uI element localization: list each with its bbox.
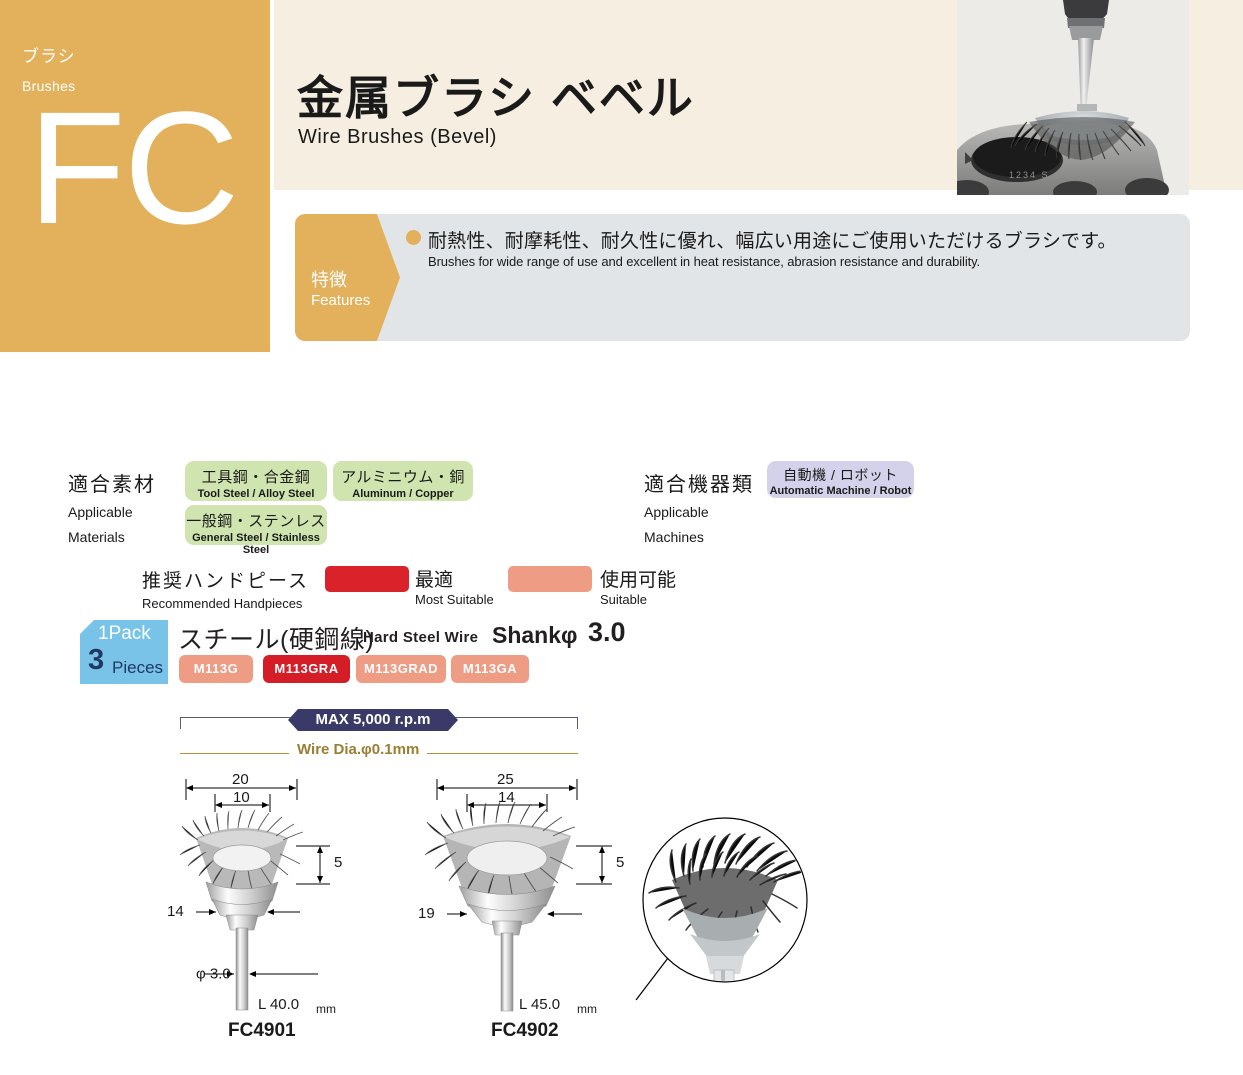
features-text-jp: 耐熱性、耐摩耗性、耐久性に優れ、幅広い用途にご使用いただけるブラシです。	[428, 226, 1117, 253]
shank-label: Shankφ	[492, 622, 577, 649]
page-title-en: Wire Brushes (Bevel)	[298, 126, 497, 149]
dim-fc4902-length-unit: mm	[577, 1002, 597, 1016]
features-tab-label-jp: 特徴	[311, 266, 347, 292]
legend-suitable-jp: 使用可能	[600, 565, 676, 592]
dim-fc4902-brush-height: 5	[616, 854, 624, 871]
machines-label-en-1: Applicable	[644, 503, 754, 522]
applicable-materials-label: 適合素材 Applicable Materials	[68, 468, 156, 547]
material-chip-en: Aluminum / Copper	[333, 488, 473, 500]
materials-label-jp: 適合素材	[68, 468, 156, 497]
material-chip: 工具鋼・合金鋼 Tool Steel / Alloy Steel	[185, 461, 327, 501]
material-chip-en: Tool Steel / Alloy Steel	[185, 488, 327, 500]
dim-fc4901-head-height: 14	[167, 903, 184, 920]
material-chip-en: General Steel / Stainless Steel	[185, 532, 327, 556]
category-label-jp: ブラシ	[22, 42, 76, 67]
pack-quantity-badge: 1Pack 3 Pieces	[80, 620, 168, 684]
pack-label: 1Pack	[98, 623, 151, 645]
dim-fc4902-length: L 45.0	[519, 996, 560, 1013]
handpiece-chip[interactable]: M113GA	[451, 655, 529, 683]
dim-fc4902-head-height: 19	[418, 905, 435, 922]
bullet-icon	[406, 230, 421, 245]
wire-type-jp: スチール(硬鋼線)	[178, 620, 374, 656]
magnified-detail-view	[636, 818, 807, 1060]
dim-fc4901-brush-height: 5	[334, 854, 342, 871]
svg-text:1234 S: 1234 S	[1009, 170, 1050, 180]
materials-label-en-2: Materials	[68, 528, 156, 547]
product-code-fc4902: FC4902	[491, 1020, 559, 1042]
legend-label-most-suitable: 最適 Most Suitable	[415, 565, 494, 607]
max-rpm-badge: MAX 5,000 r.p.m	[288, 709, 458, 731]
dim-fc4902-inner-dia: 14	[498, 789, 515, 806]
page-header: 1234 S ブラシ B	[0, 0, 1243, 356]
hero-product-photo: 1234 S	[957, 0, 1189, 195]
handpieces-label-jp: 推奨ハンドピース	[142, 566, 309, 593]
shank-value: 3.0	[588, 617, 626, 648]
handpieces-label-en: Recommended Handpieces	[142, 595, 309, 613]
handpiece-chip[interactable]: M113GRA	[263, 655, 350, 683]
dim-fc4901-length: L 40.0	[258, 996, 299, 1013]
material-chip: アルミニウム・銅 Aluminum / Copper	[333, 461, 473, 501]
machine-chip-jp: 自動機 / ロボット	[767, 465, 914, 485]
dim-fc4902-outer-dia: 25	[497, 771, 514, 788]
materials-label-en-1: Applicable	[68, 503, 156, 522]
dim-fc4901-length-unit: mm	[316, 1002, 336, 1016]
wire-dia-label: Wire Dia.φ0.1mm	[289, 741, 427, 758]
material-chip-jp: アルミニウム・銅	[333, 466, 473, 487]
machine-chip-en: Automatic Machine / Robot	[767, 485, 914, 497]
legend-swatch-suitable	[508, 566, 592, 592]
wire-type-en: Hard Steel Wire	[363, 629, 478, 646]
features-tab-label-en: Features	[311, 292, 370, 309]
machines-label-jp: 適合機器類	[644, 468, 754, 497]
pack-count: 3	[88, 646, 104, 675]
features-text-en: Brushes for wide range of use and excell…	[428, 254, 980, 269]
dim-fc4901-shank-dia: φ 3.0	[196, 966, 231, 983]
handpiece-chip[interactable]: M113G	[179, 655, 253, 683]
legend-most-suitable-en: Most Suitable	[415, 592, 494, 607]
legend-swatch-most-suitable	[325, 566, 409, 592]
handpieces-label: 推奨ハンドピース Recommended Handpieces	[142, 566, 309, 613]
material-chip: 一般鋼・ステンレス General Steel / Stainless Stee…	[185, 505, 327, 545]
page-title-jp: 金属ブラシ ベベル	[297, 62, 695, 128]
legend-most-suitable-jp: 最適	[415, 565, 494, 592]
machines-label-en-2: Machines	[644, 528, 754, 547]
pack-count-unit: Pieces	[112, 658, 163, 678]
material-chip-jp: 一般鋼・ステンレス	[185, 510, 327, 531]
applicable-machines-label: 適合機器類 Applicable Machines	[644, 468, 754, 547]
machine-chip: 自動機 / ロボット Automatic Machine / Robot	[767, 461, 914, 498]
dim-fc4901-outer-dia: 20	[232, 771, 249, 788]
handpiece-chip[interactable]: M113GRAD	[356, 655, 446, 683]
category-block: ブラシ Brushes FC	[0, 0, 270, 352]
legend-label-suitable: 使用可能 Suitable	[600, 565, 676, 607]
material-chip-jp: 工具鋼・合金鋼	[185, 466, 327, 487]
dim-fc4901-inner-dia: 10	[233, 789, 250, 806]
legend-suitable-en: Suitable	[600, 592, 676, 607]
product-drawing-fc4902	[425, 779, 612, 1011]
product-code-fc4901: FC4901	[228, 1020, 296, 1042]
category-code: FC	[28, 88, 237, 248]
